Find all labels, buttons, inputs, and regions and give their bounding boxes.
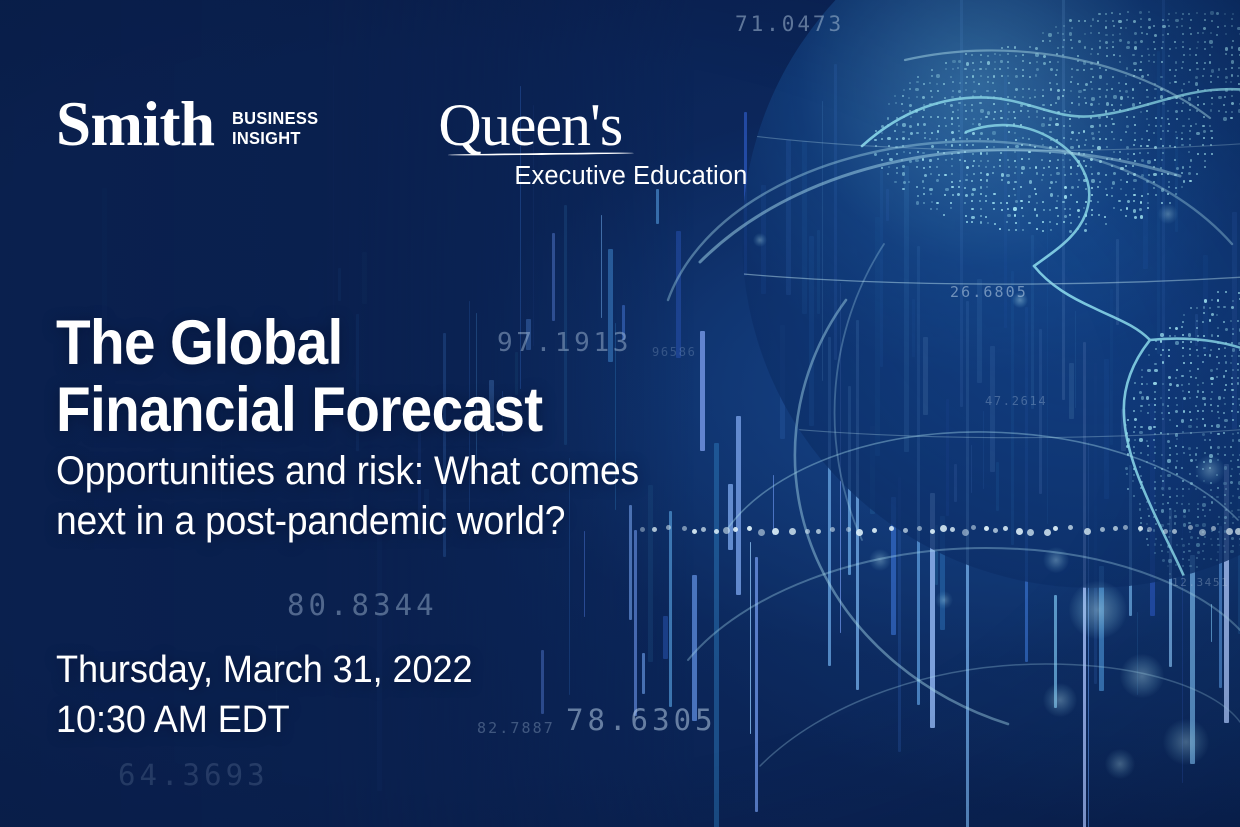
page-title: The Global Financial Forecast	[56, 310, 543, 444]
smith-tagline-line2: INSIGHT	[232, 128, 318, 148]
event-date: Thursday, March 31, 2022	[56, 645, 472, 695]
event-datetime: Thursday, March 31, 2022 10:30 AM EDT	[56, 645, 472, 745]
smith-tagline: BUSINESS INSIGHT	[232, 102, 318, 149]
title-line-2: Financial Forecast	[56, 377, 543, 444]
subtitle-line-2: next in a post-pandemic world?	[56, 497, 639, 547]
queens-wordmark-text: Queen's	[438, 92, 622, 158]
title-line-1: The Global	[56, 310, 543, 377]
event-time: 10:30 AM EDT	[56, 695, 472, 745]
event-promo-banner: 71.047397.191380.834478.630582.788764.36…	[0, 0, 1240, 827]
logo-lockup-row: Smith BUSINESS INSIGHT Queen's Executive…	[56, 96, 747, 191]
smith-business-insight-logo[interactable]: Smith BUSINESS INSIGHT	[56, 96, 323, 154]
smith-tagline-line1: BUSINESS	[232, 108, 318, 128]
content-layer: Smith BUSINESS INSIGHT Queen's Executive…	[0, 0, 1240, 827]
subtitle-line-1: Opportunities and risk: What comes	[56, 447, 639, 497]
smith-wordmark: Smith	[56, 96, 215, 154]
queens-executive-education-logo[interactable]: Queen's Executive Education	[438, 96, 747, 191]
queens-wordmark: Queen's	[438, 98, 747, 152]
queens-tagline: Executive Education	[514, 162, 747, 191]
page-subtitle: Opportunities and risk: What comes next …	[56, 447, 639, 546]
